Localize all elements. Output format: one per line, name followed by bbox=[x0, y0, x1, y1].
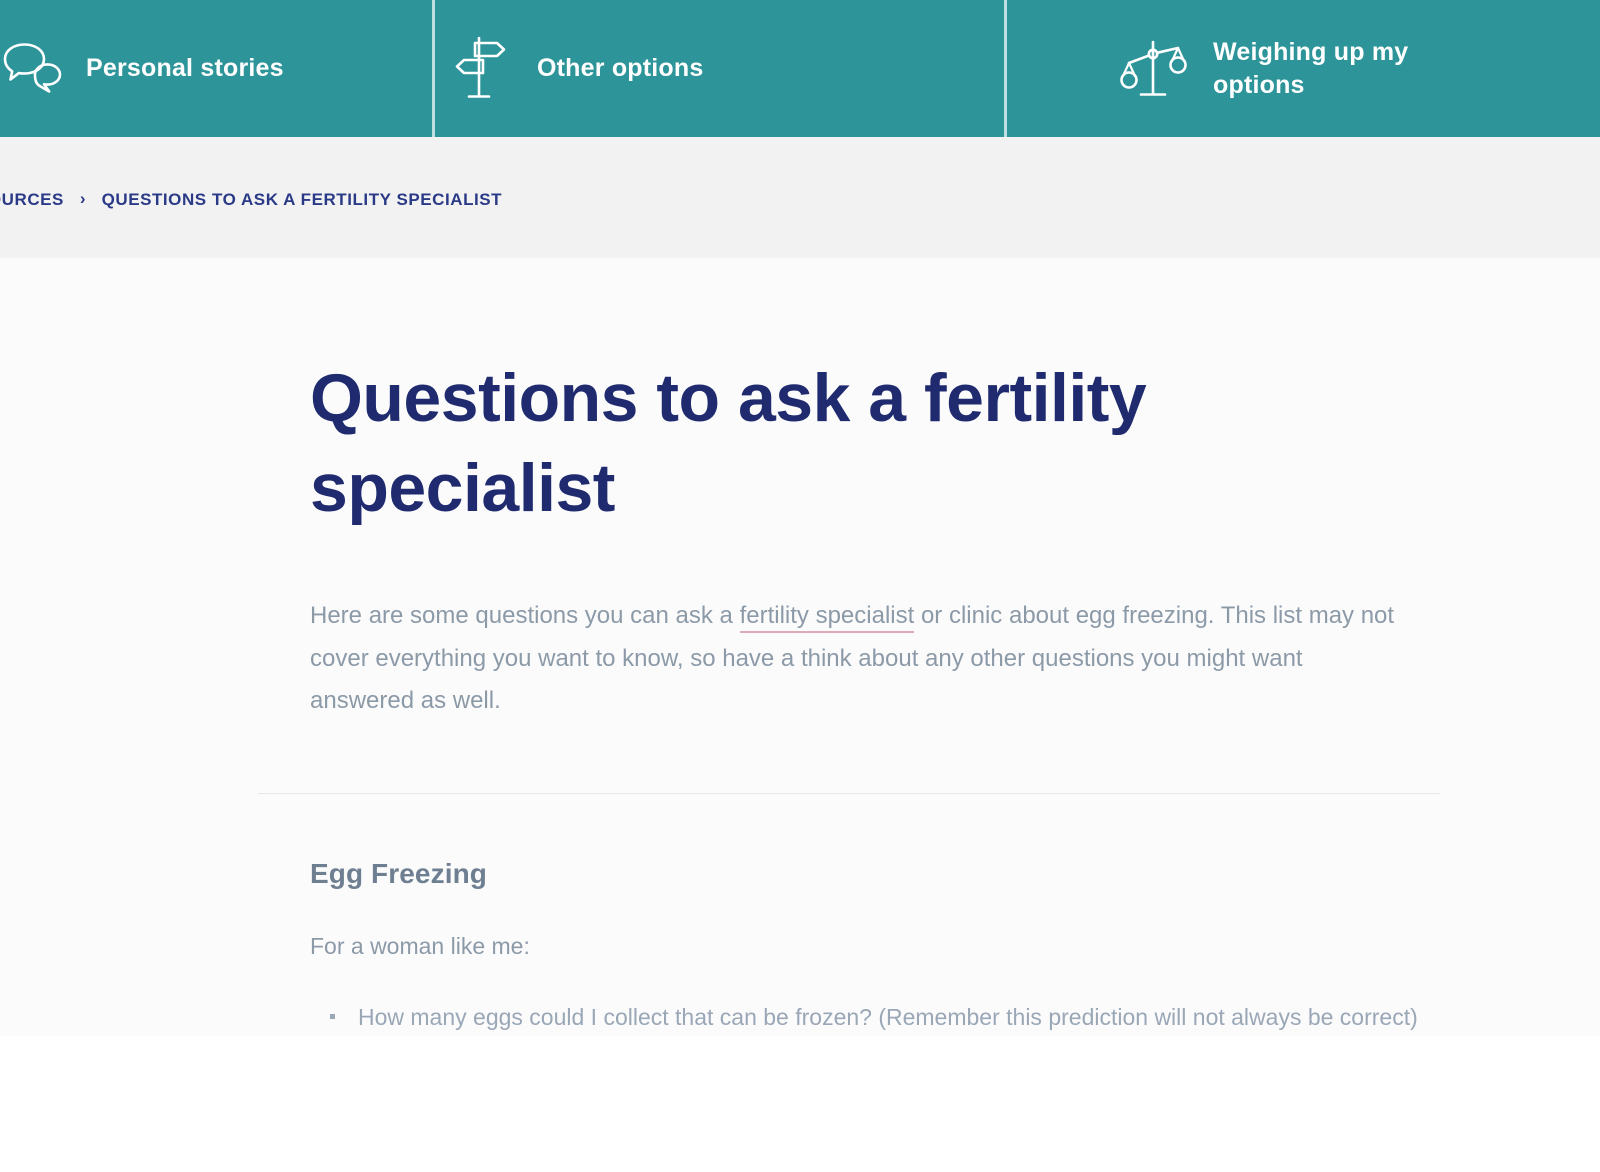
section-heading-egg-freezing: Egg Freezing bbox=[310, 794, 1440, 890]
intro-text-before: Here are some questions you can ask a bbox=[310, 602, 740, 629]
main-content-area: Questions to ask a fertility specialist … bbox=[0, 258, 1600, 1104]
breadcrumb-item-current: QUESTIONS TO ASK A FERTILITY SPECIALIST bbox=[102, 190, 503, 210]
nav-item-label: Personal stories bbox=[86, 52, 284, 85]
breadcrumb-bar: SOURCES › QUESTIONS TO ASK A FERTILITY S… bbox=[0, 137, 1600, 258]
list-item: How many eggs could I collect that can b… bbox=[310, 999, 1440, 1036]
nav-item-label: Weighing up my options bbox=[1213, 36, 1463, 101]
speech-bubbles-icon bbox=[0, 29, 68, 109]
top-navigation-bar: Personal stories Other options bbox=[0, 0, 1600, 137]
nav-item-weighing-up-my-options[interactable]: Weighing up my options bbox=[1004, 0, 1600, 137]
section-lead-text: For a woman like me: bbox=[310, 890, 1440, 965]
nav-item-personal-stories[interactable]: Personal stories bbox=[0, 0, 432, 137]
breadcrumb: SOURCES › QUESTIONS TO ASK A FERTILITY S… bbox=[0, 185, 502, 210]
balance-scales-icon bbox=[1117, 29, 1189, 109]
nav-item-other-options[interactable]: Other options bbox=[432, 0, 1004, 137]
content-column: Questions to ask a fertility specialist … bbox=[310, 258, 1440, 1092]
chevron-right-icon: › bbox=[80, 189, 86, 210]
breadcrumb-item-resources[interactable]: SOURCES bbox=[0, 190, 64, 210]
intro-paragraph: Here are some questions you can ask a fe… bbox=[310, 534, 1395, 723]
fertility-specialist-link[interactable]: fertility specialist bbox=[740, 602, 915, 633]
page-title: Questions to ask a fertility specialist bbox=[310, 353, 1210, 534]
viewport-cutoff bbox=[0, 1036, 1600, 1104]
signpost-icon bbox=[443, 29, 515, 109]
nav-item-label: Other options bbox=[537, 52, 703, 85]
